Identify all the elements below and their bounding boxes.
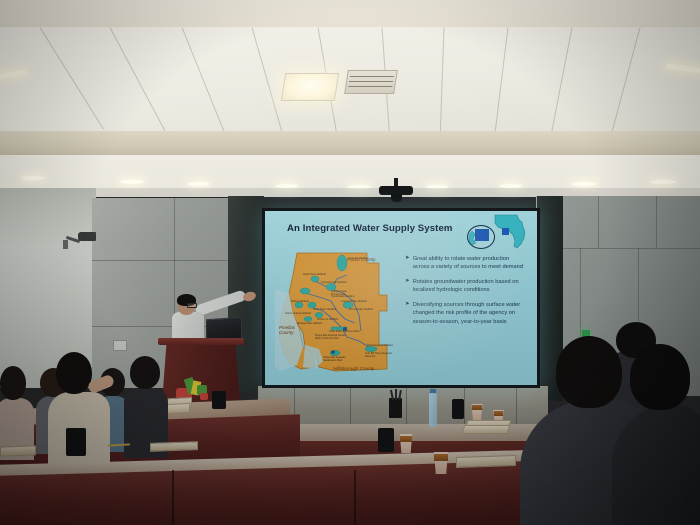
speaker-unit[interactable] [66,428,86,456]
presenter-glasses-icon [187,303,197,308]
map-facility-label: South Pasco Wellfield [313,309,336,312]
cup-contents [400,436,412,442]
water-bottle[interactable] [429,393,437,427]
map-label-hillsborough: Hillsborough County [333,366,374,371]
downlight [120,180,144,184]
booklet[interactable] [150,441,198,452]
map-facility-label: Lithia Regional Wellfield [367,345,392,348]
table-panel-seam [354,470,356,525]
speaker-unit[interactable] [452,399,464,419]
booklet[interactable] [456,455,516,468]
map-facility-label: C.W. Bill Young Regional Reservoir [365,353,393,358]
bullet-arrow-icon: ➤ [405,255,410,271]
map-facility-label: Cypress Creek Pumping and Transmission B… [331,291,355,299]
pen[interactable] [395,389,397,400]
downlight [572,182,596,186]
bullet-arrow-icon: ➤ [405,301,410,325]
downlight [500,184,522,188]
light-switch-plate[interactable] [113,340,127,351]
ceiling-air-vent [344,70,398,94]
table-panel-seam [172,470,174,525]
downlight [426,185,448,189]
bullet-text: Rotates groundwater production based on … [413,278,527,294]
ceiling-beam [0,131,700,157]
service-area-map: Pasco County Pinellas County Hillsboroug… [275,249,397,377]
map-facility-label: Starkey Wellfield [291,301,309,304]
conference-room-photo: An Integrated Water Supply System [0,0,700,525]
map-label-pinellas: Pinellas County [279,325,309,336]
map-facility-label: Tampa Bay Regional Surface Water Treatme… [315,335,349,340]
map-facility-label: Cypress Bridge Wellfield [341,301,367,304]
slide-bullet-list: ➤ Great ability to rotate water producti… [405,255,527,333]
podium-top-surface [158,338,244,345]
booklet[interactable] [462,425,511,434]
bullet-text: Great ability to rotate water production… [413,255,527,271]
map-facility-label: Cross Bar Wellfield [348,258,368,261]
recessed-light-panel [281,73,339,101]
downlight [348,185,370,189]
bullet-arrow-icon: ➤ [405,278,410,294]
slide-title: An Integrated Water Supply System [287,223,453,234]
map-facility-label: North Pasco Wellfield [303,274,326,277]
downlight [22,176,44,180]
camera-mount [63,240,68,249]
bullet-item: ➤ Rotates groundwater production based o… [405,278,527,294]
projector-lens-icon [391,194,402,202]
downlight [188,182,210,186]
speaker-unit[interactable] [378,428,394,452]
map-facility-label: Cosme Odessa Wellfield [285,313,311,316]
ceiling-lower-band [0,155,700,197]
flower-arrangement-red [200,393,208,400]
cup-contents [472,405,482,410]
booklet[interactable] [0,445,36,456]
map-facility-label: Morris Bridge Wellfield [349,309,373,312]
security-camera-icon [78,232,96,241]
speaker-unit[interactable] [212,391,226,409]
downlight [650,180,676,184]
bullet-item: ➤ Diversifying sources through surface w… [405,301,527,325]
florida-inset-map [465,213,531,253]
pen-holder[interactable] [389,398,402,418]
projection-screen[interactable]: An Integrated Water Supply System [262,208,540,388]
bullet-text: Diversifying sources through surface wat… [413,301,527,325]
projected-slide: An Integrated Water Supply System [265,211,537,385]
map-facility-label: Eldridge Wilde Wellfield [297,323,322,326]
downlight [276,184,298,188]
bullet-item: ➤ Great ability to rotate water producti… [405,255,527,271]
ceiling-upper-band [0,0,700,30]
map-facility-label: Cypress Creek Wellfield [321,282,346,285]
cup-contents [434,454,448,461]
cup-contents [494,411,503,416]
map-facility-label: Tampa Bay Seawater Desalination Plant [323,357,353,362]
